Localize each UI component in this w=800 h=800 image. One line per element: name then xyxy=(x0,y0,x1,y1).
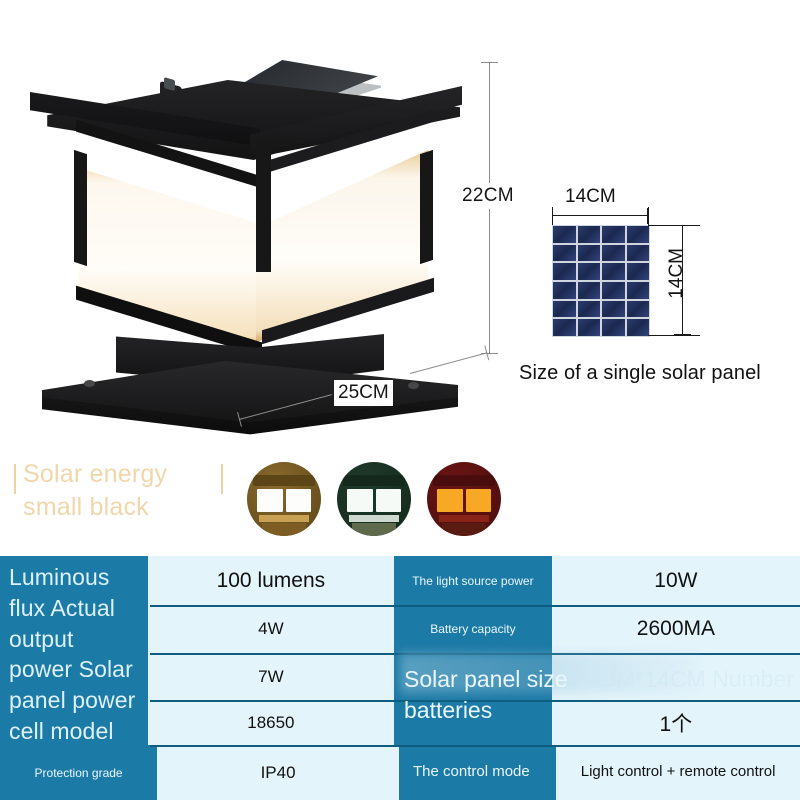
spec-label-cell-2 xyxy=(394,700,552,745)
spec-label-cell-2: Battery capacity xyxy=(394,605,552,653)
base-screw-hole-right xyxy=(408,382,419,389)
spec-label-cell xyxy=(0,700,148,745)
spec-label-cell xyxy=(0,556,148,605)
spec-value-cell-2: 10W xyxy=(552,556,800,605)
spec-value-cell: 7W xyxy=(148,653,394,700)
panel-width-dimension-line xyxy=(552,215,648,216)
swatch-window xyxy=(437,489,490,513)
spec-value-cell-2: Light control + remote control xyxy=(556,745,800,800)
spec-value-cell-2 xyxy=(552,653,800,700)
swatch-cap xyxy=(343,475,405,486)
solar-cell xyxy=(553,301,576,318)
solar-cell xyxy=(602,301,625,318)
solar-cell xyxy=(553,245,576,262)
solar-cell xyxy=(602,245,625,262)
spec-label-cell xyxy=(0,605,148,653)
swatch-window xyxy=(257,489,310,513)
spec-value-cell: 18650 xyxy=(148,700,394,745)
spec-value-cell: 4W xyxy=(148,605,394,653)
spec-value-cell: IP40 xyxy=(157,745,399,800)
lamp-frame-post-right xyxy=(420,150,433,264)
solar-cell xyxy=(627,319,650,336)
table-row: 186501个 xyxy=(0,700,800,745)
swatch-foot xyxy=(442,523,486,536)
table-row: 7W xyxy=(0,653,800,700)
solar-panel-caption: Size of a single solar panel xyxy=(519,362,761,385)
swatch-foot xyxy=(262,523,306,536)
color-swatch-bronze-gold[interactable] xyxy=(247,462,321,536)
swatch-base xyxy=(349,515,399,522)
solar-cell xyxy=(553,226,576,243)
solar-cell xyxy=(553,319,576,336)
lamp-frame-post-center xyxy=(256,144,271,272)
panel-width-label: 14CM xyxy=(565,186,616,208)
table-divider xyxy=(150,700,800,702)
panel-height-cap-bottom xyxy=(648,335,700,336)
product-lamp-image xyxy=(18,48,488,448)
brand-title-line2: small black xyxy=(14,491,229,524)
height-dimension-label: 22CM xyxy=(459,183,517,209)
table-row: 100 lumensThe light source power10W xyxy=(0,556,800,605)
solar-cell xyxy=(578,319,601,336)
panel-height-label: 14CM xyxy=(666,248,688,299)
solar-cell xyxy=(627,245,650,262)
spec-value-cell-2: 1个 xyxy=(552,700,800,745)
solar-cell xyxy=(578,301,601,318)
spec-label-cell-2 xyxy=(394,653,552,700)
solar-panel-cell-grid xyxy=(552,225,650,337)
spec-value-cell: 100 lumens xyxy=(148,556,394,605)
brand-accent-bar-right xyxy=(221,464,223,494)
solar-cell xyxy=(578,263,601,280)
solar-cell xyxy=(627,263,650,280)
solar-cell xyxy=(578,282,601,299)
solar-cell xyxy=(602,319,625,336)
swatch-cap xyxy=(433,475,495,486)
solar-cell xyxy=(578,245,601,262)
table-row: Protection gradeIP40The control modeLigh… xyxy=(0,745,800,800)
solar-cell xyxy=(602,226,625,243)
color-swatch-dark-green[interactable] xyxy=(337,462,411,536)
solar-cell xyxy=(553,263,576,280)
product-infographic: 22CM 25CM 14CM 14CM Size of a single sol… xyxy=(0,0,800,800)
base-screw-hole-left xyxy=(84,380,95,387)
swatch-base xyxy=(259,515,309,522)
swatch-window xyxy=(347,489,400,513)
solar-cell xyxy=(578,226,601,243)
solar-cell xyxy=(627,301,650,318)
table-divider xyxy=(150,653,800,655)
table-row: 4WBattery capacity2600MA xyxy=(0,605,800,653)
solar-cell xyxy=(627,282,650,299)
specification-table: 100 lumensThe light source power10W4WBat… xyxy=(0,556,800,800)
color-swatch-dark-red[interactable] xyxy=(427,462,501,536)
spec-label-cell-2: The light source power xyxy=(394,556,552,605)
spec-label-cell: Protection grade xyxy=(0,745,157,800)
solar-cell xyxy=(553,282,576,299)
swatch-base xyxy=(439,515,489,522)
spec-value-cell-2: 2600MA xyxy=(552,605,800,653)
solar-cell xyxy=(627,226,650,243)
lamp-frame-post-left xyxy=(74,150,87,266)
spec-label-cell-2: The control mode xyxy=(399,745,556,800)
brand-accent-bar-left xyxy=(14,464,16,494)
brand-title-line1: Solar energy xyxy=(14,458,229,491)
solar-cell xyxy=(602,282,625,299)
brand-title-block: Solar energy small black xyxy=(14,458,229,524)
swatch-cap xyxy=(253,475,315,486)
swatch-foot xyxy=(352,523,396,536)
table-divider xyxy=(150,745,800,747)
width-dimension-label: 25CM xyxy=(334,380,393,406)
table-divider xyxy=(150,605,800,607)
solar-cell xyxy=(602,263,625,280)
color-variant-swatches[interactable] xyxy=(247,462,501,536)
spec-label-cell xyxy=(0,653,148,700)
